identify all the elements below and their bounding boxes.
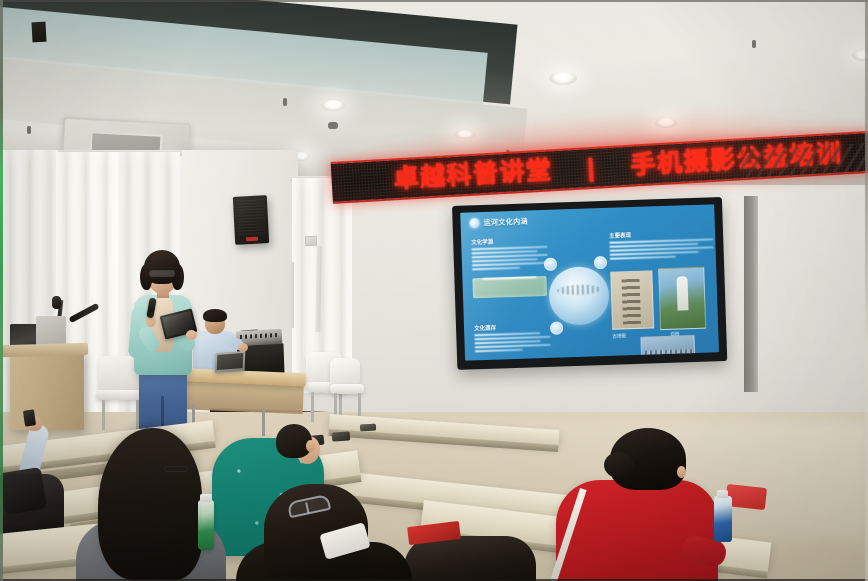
slide-text-line [610, 256, 676, 260]
canal-logo-icon [469, 218, 479, 228]
chair-leg [102, 400, 105, 430]
presenter [118, 250, 204, 440]
slide-image-caption: 古塔图 [612, 333, 626, 339]
projection-screen[interactable]: 运河文化内涵 文化学源 文化遗存 [452, 197, 727, 370]
sprinkler-head-icon [752, 40, 756, 48]
presenter-hair [144, 250, 180, 284]
wall-speaker-icon [233, 195, 269, 245]
attendee-long-hair [98, 428, 202, 580]
slide-right-column: 主要表现 [609, 228, 716, 261]
slide-callout-text [483, 276, 536, 280]
operator-hand [238, 343, 248, 352]
slide-text-line [610, 251, 699, 256]
podium-equipment [36, 316, 66, 346]
bottle-cap [200, 494, 212, 502]
speaker-badge [246, 237, 258, 242]
slide-text-line [472, 267, 520, 271]
blue-water-bottle-icon [714, 496, 732, 542]
speaker-grill [236, 198, 266, 234]
presentation-slide: 运河文化内涵 文化学源 文化遗存 [460, 204, 719, 360]
slide-image-caption: 白塔 [670, 332, 679, 338]
attendee-ear [677, 466, 686, 478]
canal-bridge-photo [640, 335, 695, 361]
slide-header: 运河文化内涵 [469, 216, 528, 228]
slide-node-icon [544, 258, 557, 271]
slide-left-heading: 文化学源 [471, 236, 549, 247]
led-text-left: 卓越科普讲堂 [393, 156, 553, 193]
table-prop [360, 424, 376, 432]
sprinkler-head-icon [283, 98, 287, 106]
table-leg [262, 408, 265, 436]
presenter-glasses-icon [149, 270, 175, 277]
speaker-bracket [31, 22, 46, 43]
slide-title: 运河文化内涵 [483, 216, 528, 227]
wall-outlet-plate [305, 236, 317, 246]
led-text-right: 手机摄影公益培训 [630, 139, 843, 179]
handbag-icon [0, 467, 47, 515]
podium-top [2, 343, 88, 357]
image-border-top [0, 0, 868, 2]
slide-image-caption: 运河桥 [697, 355, 711, 361]
led-text-separator: | [586, 153, 596, 181]
slide-left-heading-2: 文化遗存 [474, 322, 552, 333]
slide-text-line [475, 349, 523, 353]
bottle-cap [717, 490, 728, 498]
wall-conduit [290, 262, 294, 328]
green-tea-bottle-icon [198, 500, 214, 550]
slide-left-column-2: 文化遗存 [474, 322, 553, 355]
podium-microphone-icon [52, 296, 61, 309]
attendee-ear [306, 440, 315, 452]
attendee-hair-bun [604, 452, 634, 478]
slide-node-icon [550, 321, 563, 334]
white-pagoda-photo [658, 267, 706, 330]
wooden-lectern [10, 352, 84, 430]
slide-globe-diagram [548, 266, 610, 326]
slide-node-icon [594, 256, 607, 269]
wall-right-column-edge [744, 196, 758, 392]
chair-back [330, 358, 360, 384]
attendee-glasses-icon [164, 466, 188, 472]
slide-callout-box [472, 276, 547, 298]
lecture-hall-photo: 卓越科普讲堂 | 手机摄影公益培训 运河文化内涵 文化学源 [0, 0, 868, 581]
chair-leg [311, 392, 314, 422]
slide-left-column: 文化学源 [471, 236, 551, 299]
smoke-detector-icon [328, 122, 338, 129]
laptop-icon[interactable] [215, 351, 246, 373]
downlight-icon [549, 72, 577, 85]
smartphone-icon [23, 409, 36, 426]
table-prop [332, 431, 351, 441]
pagoda-ink-painting [610, 270, 654, 329]
slide-text-line [475, 344, 551, 349]
downlight-icon [321, 100, 345, 111]
operator-hair [203, 309, 227, 322]
sprinkler-head-icon [27, 126, 31, 134]
image-border-left [0, 0, 3, 581]
presenter-hand-right [186, 330, 197, 340]
slide-text-line [472, 262, 548, 267]
